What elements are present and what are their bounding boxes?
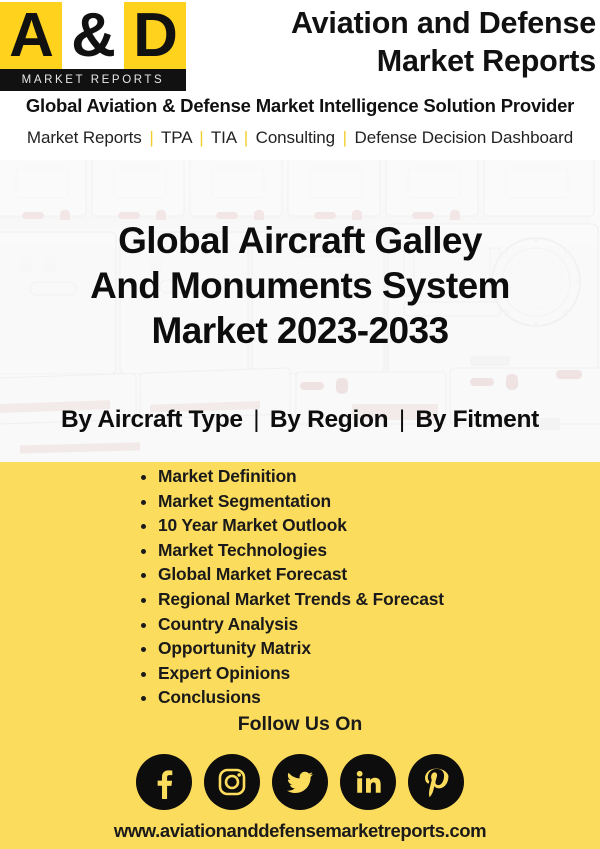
page-header: A & D MARKET REPORTS Aviation and Defens… (0, 0, 600, 160)
nav-item-defense-decision-dashboard[interactable]: Defense Decision Dashboard (355, 128, 574, 147)
list-item: Country Analysis (158, 612, 444, 637)
segment-by-aircraft-type: By Aircraft Type (61, 406, 243, 433)
nav-item-tia[interactable]: TIA (211, 128, 236, 147)
brand-title-line2: Market Reports (196, 42, 596, 80)
twitter-icon (284, 766, 316, 798)
list-item: Expert Opinions (158, 661, 444, 686)
linkedin-icon (353, 767, 383, 797)
hero-section: Global Aircraft Galley And Monuments Sys… (0, 160, 600, 462)
nav-separator: | (340, 128, 350, 147)
linkedin-link[interactable] (340, 754, 396, 810)
pinterest-icon (419, 765, 453, 799)
facebook-link[interactable] (136, 754, 192, 810)
instagram-link[interactable] (204, 754, 260, 810)
nav-item-consulting[interactable]: Consulting (256, 128, 335, 147)
logo-letters: A & D (0, 2, 186, 69)
pinterest-link[interactable] (408, 754, 464, 810)
logo-caption-bar: MARKET REPORTS (0, 69, 186, 91)
logo-letter-ampersand: & (62, 2, 124, 69)
website-url[interactable]: www.aviationanddefensemarketreports.com (0, 820, 600, 842)
follow-us-label: Follow Us On (0, 713, 600, 736)
report-title-line2: And Monuments System (0, 263, 600, 308)
list-item: Opportunity Matrix (158, 636, 444, 661)
list-item: 10 Year Market Outlook (158, 513, 444, 538)
brand-row: A & D MARKET REPORTS Aviation and Defens… (0, 0, 600, 92)
list-item: Regional Market Trends & Forecast (158, 587, 444, 612)
nav-separator: | (241, 128, 251, 147)
list-item: Market Definition (158, 464, 444, 489)
list-item: Market Technologies (158, 538, 444, 563)
twitter-link[interactable] (272, 754, 328, 810)
brand-title: Aviation and Defense Market Reports (196, 4, 596, 80)
brand-title-line1: Aviation and Defense (196, 4, 596, 42)
company-logo[interactable]: A & D MARKET REPORTS (0, 2, 186, 92)
report-cover-poster: A & D MARKET REPORTS Aviation and Defens… (0, 0, 600, 849)
segment-by-region: By Region (270, 406, 388, 433)
nav-item-tpa[interactable]: TPA (161, 128, 192, 147)
segment-separator: | (249, 406, 263, 433)
list-item: Global Market Forecast (158, 562, 444, 587)
logo-letter-a: A (0, 2, 62, 69)
report-contents-list: Market Definition Market Segmentation 10… (136, 464, 444, 710)
report-title-line3: Market 2023-2033 (0, 308, 600, 353)
list-item: Conclusions (158, 685, 444, 710)
report-title-line1: Global Aircraft Galley (0, 218, 600, 263)
nav-item-market-reports[interactable]: Market Reports (27, 128, 142, 147)
service-nav: Market Reports | TPA | TIA | Consulting … (0, 128, 600, 148)
company-tagline: Global Aviation & Defense Market Intelli… (0, 95, 600, 117)
nav-separator: | (146, 128, 156, 147)
report-segmentation-line: By Aircraft Type | By Region | By Fitmen… (0, 406, 600, 434)
nav-separator: | (196, 128, 206, 147)
report-title: Global Aircraft Galley And Monuments Sys… (0, 218, 600, 353)
segment-separator: | (395, 406, 409, 433)
instagram-icon (216, 766, 248, 798)
social-links (0, 754, 600, 810)
logo-caption-text: MARKET REPORTS (22, 74, 165, 86)
segment-by-fitment: By Fitment (415, 406, 539, 433)
list-item: Market Segmentation (158, 489, 444, 514)
facebook-icon (147, 765, 181, 799)
logo-letter-d: D (124, 2, 186, 69)
